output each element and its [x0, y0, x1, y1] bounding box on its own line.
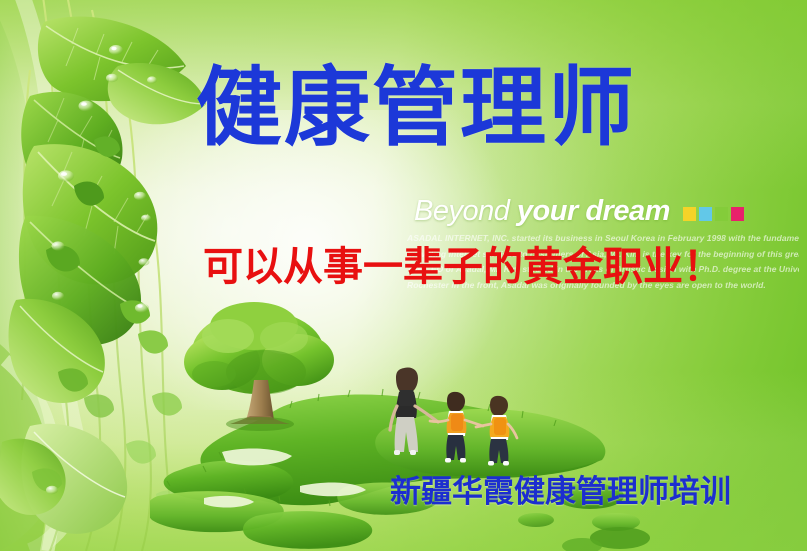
- swatch-magenta: [731, 207, 744, 221]
- tagline-part1: Beyond: [414, 195, 517, 227]
- poster-canvas: 健康管理师 Beyond your dream ASADAL INTERNET,…: [0, 0, 807, 551]
- color-swatch-row: [683, 207, 744, 221]
- tagline: Beyond your dream: [414, 196, 670, 226]
- organization-name: 新疆华霞健康管理师培训: [390, 472, 731, 512]
- page-title: 健康管理师: [196, 53, 686, 163]
- swatch-green: [715, 207, 728, 221]
- swatch-yellow: [683, 207, 696, 221]
- swatch-blue: [699, 207, 712, 221]
- grass-world-map: [150, 300, 650, 551]
- slogan-text: 可以从事一辈子的黄金职业！: [203, 241, 723, 293]
- tagline-part2: your dream: [517, 195, 670, 227]
